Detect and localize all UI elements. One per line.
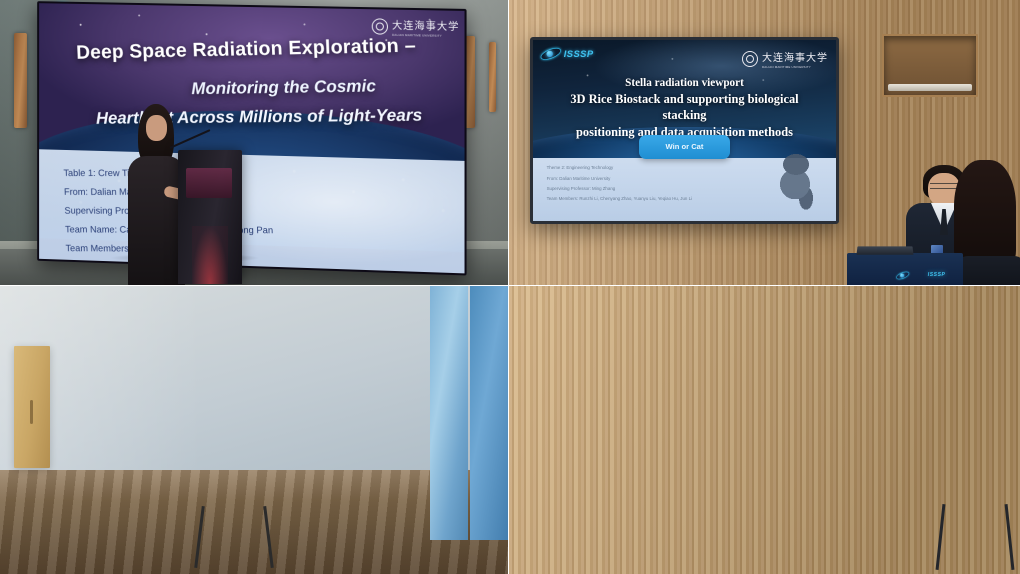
panel-top-right: ISSSP 大连海事大学 DALIAN MARITIME UNIVERSITY … <box>509 0 1020 286</box>
projection-screen: 大连海事大学 DALIAN MARITIME UNIVERSITY Deep S… <box>37 1 466 275</box>
dmu-university-logo: 大连海事大学 DALIAN MARITIME UNIVERSITY <box>742 48 828 69</box>
bystander-figure <box>954 160 1020 286</box>
isssp-logo-text: ISSSP <box>564 48 594 59</box>
poster-easel <box>929 504 1020 570</box>
laptop <box>856 246 913 254</box>
slide-meta-line: Team Members: Runzhi Li, Chenyang Zhao, … <box>547 194 765 204</box>
bystander-body <box>956 256 1020 286</box>
isssp-logo: ISSSP <box>540 47 593 61</box>
orbit-icon <box>540 47 562 61</box>
podium-isssp-logo: ISSSP <box>896 266 946 285</box>
blue-column <box>430 286 468 540</box>
slide-mascot-graphic <box>771 154 821 212</box>
orbit-icon <box>896 271 910 280</box>
poster-easel <box>190 506 278 568</box>
wooden-door <box>14 346 50 468</box>
podium <box>178 150 242 284</box>
wall-niche <box>882 34 978 97</box>
slide-meta-text: Theme 2: Engineering Technology From: Da… <box>547 163 765 204</box>
slide-title-block: Stella radiation viewport 3D Rice Biosta… <box>551 76 818 139</box>
slide-meta-line: From: Dalian Maritime University <box>547 174 765 184</box>
photo-collage: ISSSP 大连海事大学 DALIAN MARITIME UNIVERSITY … <box>0 0 1020 574</box>
podium: ISSSP <box>847 253 963 286</box>
slide-title-line3: Heartbeat Across Millions of Light-Years <box>55 105 464 129</box>
university-name: 大连海事大学 DALIAN MARITIME UNIVERSITY <box>762 48 828 69</box>
panel-bottom-left: Deep Space Radiation Exploration Monitor… <box>0 286 509 574</box>
blue-column <box>470 286 509 540</box>
bystander-hair <box>954 160 1016 270</box>
university-seal-icon <box>742 51 758 67</box>
wall-wood-strip <box>489 42 496 112</box>
slide-meta-line: Theme 2: Engineering Technology <box>547 163 765 173</box>
panel-bottom-right: Stella radiation viewport – 3D Rice Bios… <box>509 286 1020 574</box>
university-seal-icon <box>372 18 388 34</box>
slide-title-line2: 3D Rice Biostack and supporting biologic… <box>551 91 818 123</box>
wall-display-screen: ISSSP 大连海事大学 DALIAN MARITIME UNIVERSITY … <box>530 37 839 224</box>
presenter-face <box>146 115 167 141</box>
presenter-body <box>128 156 185 286</box>
slide-meta-line: Supervising Professor: Ming Zhang <box>547 184 765 194</box>
wall-wood-strip <box>14 33 27 128</box>
panel-top-left: ISSSP 大连海事大学 DALIAN MARITIME UNIVERSITY … <box>0 0 509 286</box>
podium-logo-text: ISSSP <box>928 272 946 278</box>
slide-title-line1: Stella radiation viewport <box>551 76 818 91</box>
slide-button[interactable]: Win or Cat <box>639 135 730 159</box>
